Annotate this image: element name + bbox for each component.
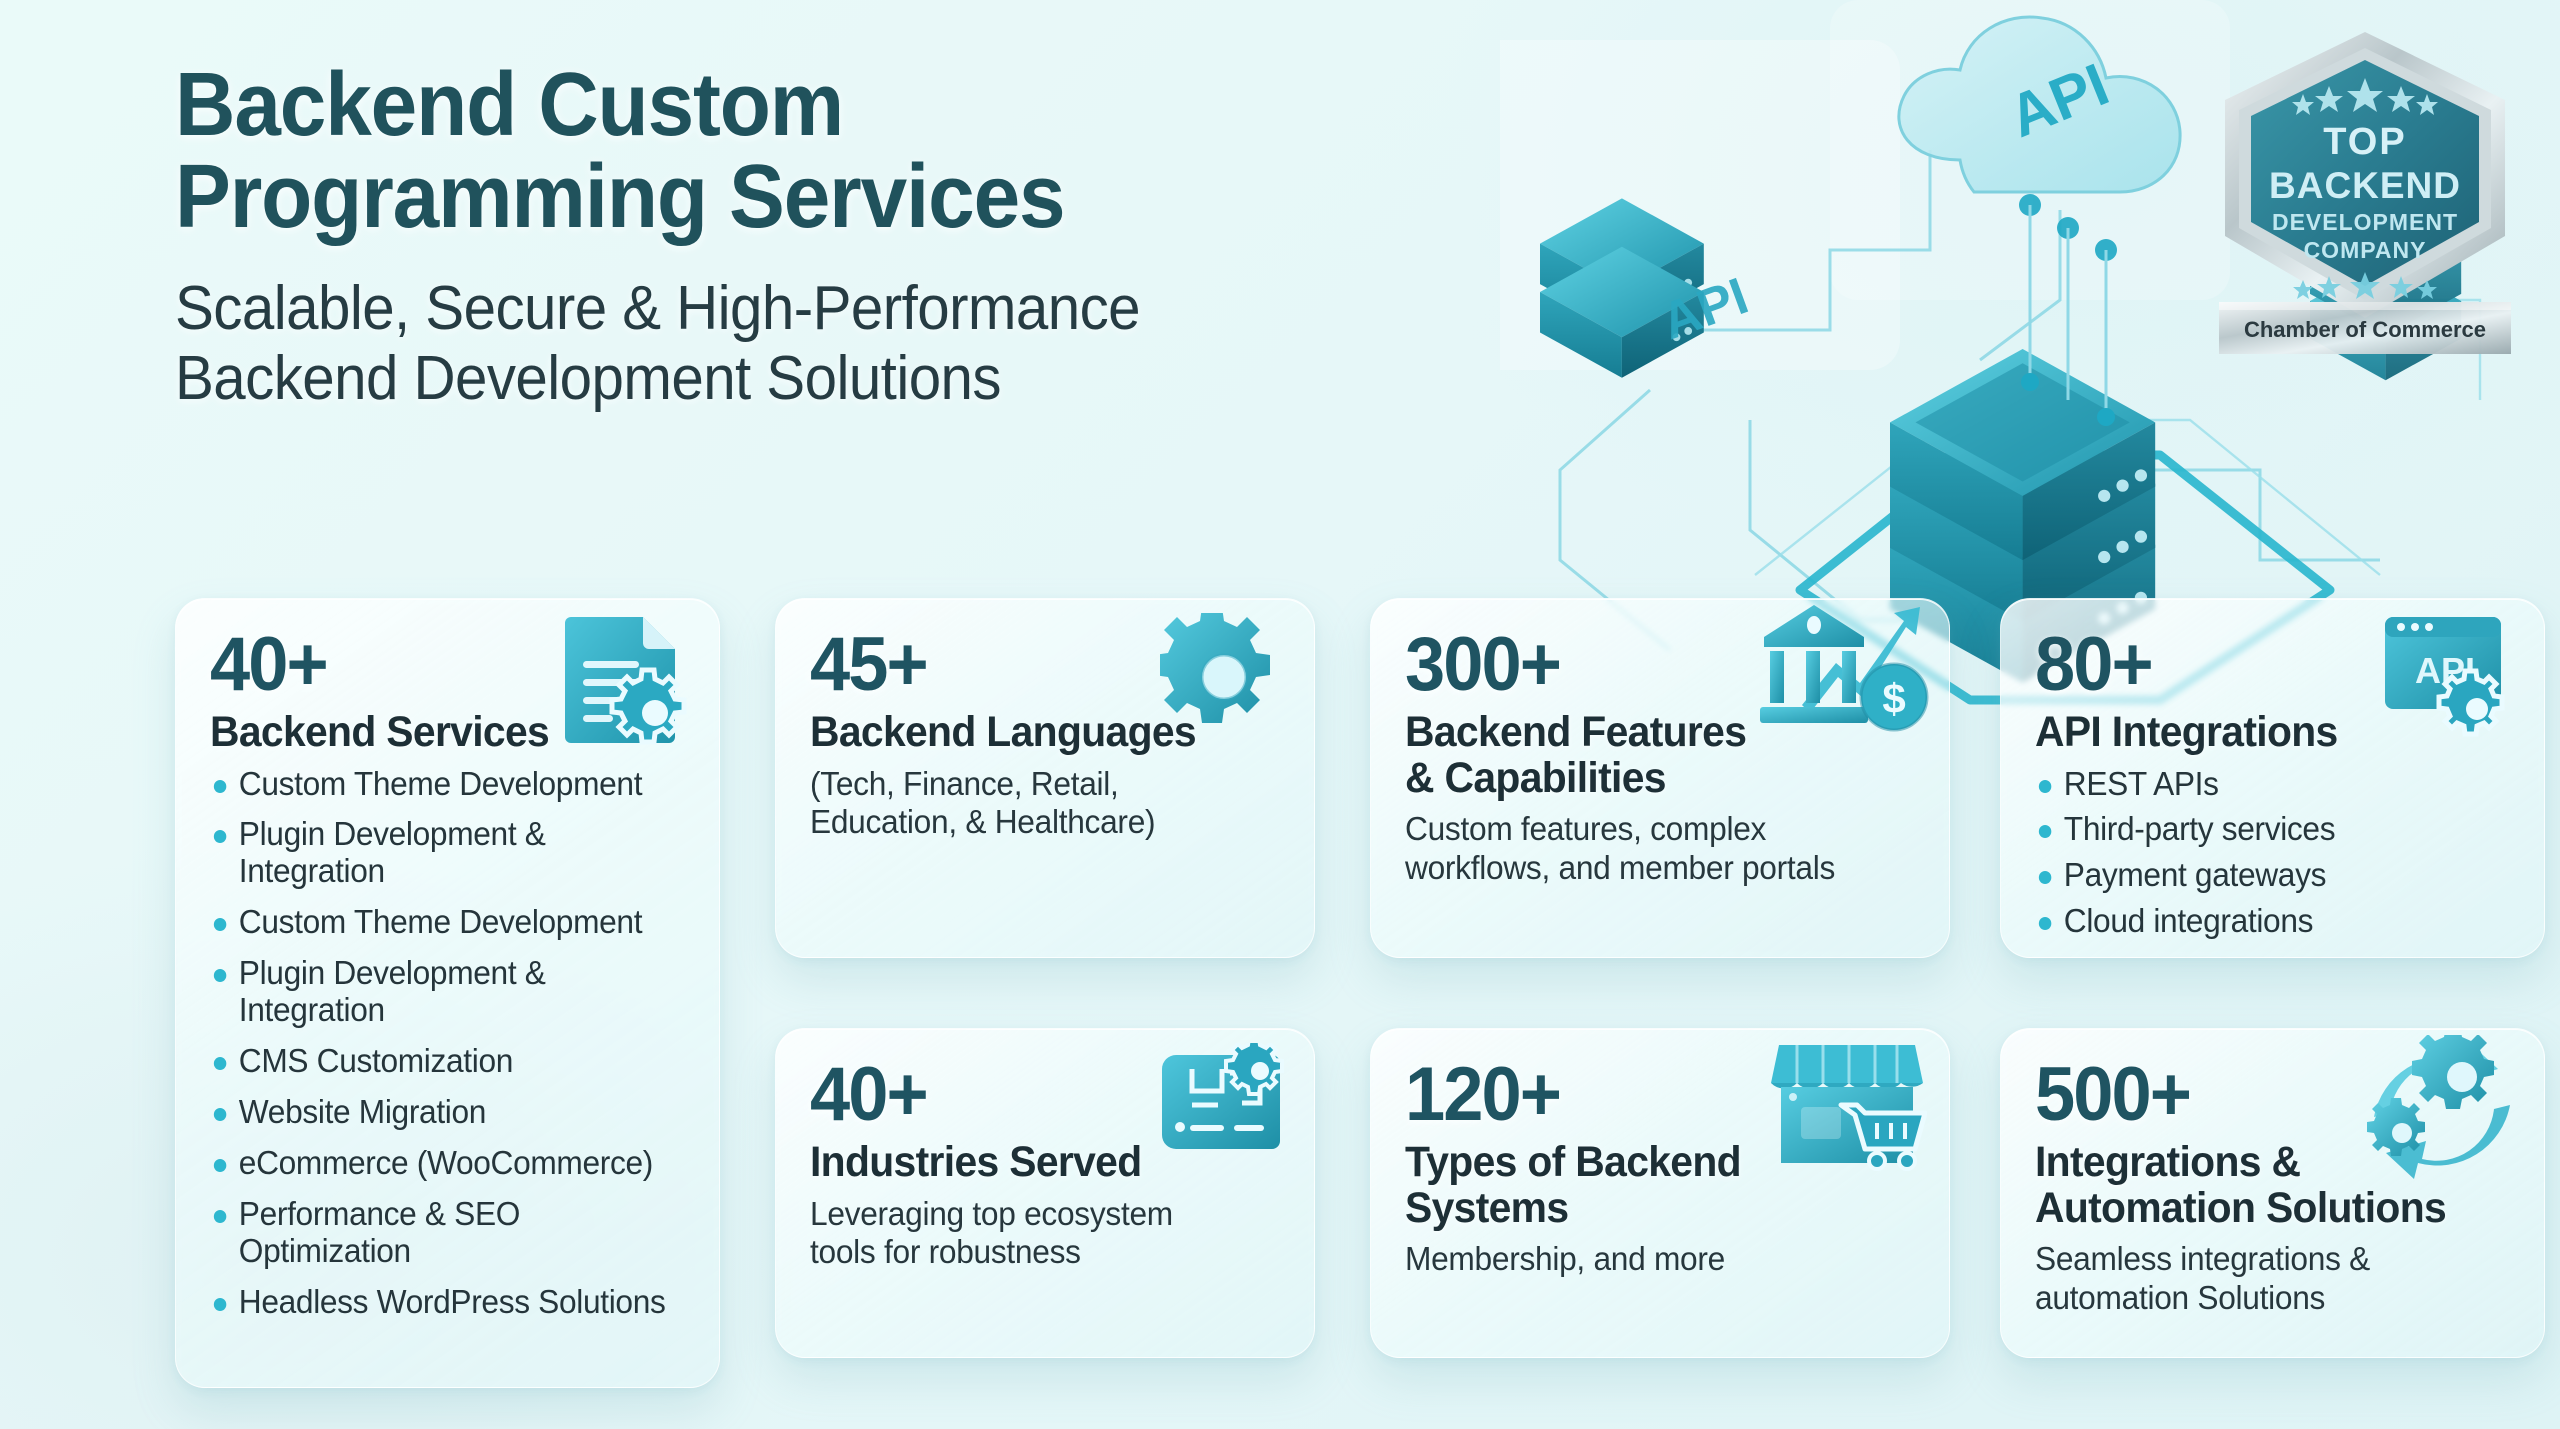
stat-subtitle: (Tech, Finance, Retail, Education, & Hea… xyxy=(810,765,1261,842)
stat-subtitle-line1: Seamless integrations & xyxy=(2035,1240,2491,1279)
api-integrations-list: REST APIs Third-party services Payment g… xyxy=(2035,766,2510,941)
list-item: eCommerce (WooCommerce) xyxy=(210,1145,666,1182)
stat-title-line2: Systems xyxy=(1405,1186,1890,1232)
stat-card-backend-systems[interactable]: 120+ Types of Backend Systems Membership… xyxy=(1370,1028,1950,1358)
stat-card-backend-services[interactable]: 40+ Backend Services Custom Theme Develo… xyxy=(175,598,720,1388)
stat-title: Integrations & Automation Solutions xyxy=(2035,1140,2486,1231)
badge-ribbon-text: Chamber of Commerce xyxy=(2244,317,2486,342)
badge-line3: DEVELOPMENT xyxy=(2272,209,2458,235)
list-item: Performance & SEO Optimization xyxy=(210,1196,666,1270)
list-item: Plugin Development & Integration xyxy=(210,816,666,890)
stat-subtitle: Leveraging top ecosystem tools for robus… xyxy=(810,1195,1261,1272)
list-item: Cloud integrations xyxy=(2035,903,2491,940)
list-item: Website Migration xyxy=(210,1094,666,1131)
page-title: Backend Custom Programming Services xyxy=(175,60,1421,244)
stat-subtitle: Custom features, complex workflows, and … xyxy=(1405,810,1895,887)
infographic-canvas: Backend Custom Programming Services Scal… xyxy=(0,0,2560,1429)
page-subtitle-line2: Backend Development Solutions xyxy=(175,344,1435,414)
stat-number: 45+ xyxy=(810,629,1257,702)
stat-title: API Integrations xyxy=(2035,710,2486,756)
headline-block: Backend Custom Programming Services Scal… xyxy=(175,60,1515,414)
stat-card-api-integrations[interactable]: API 80+ API Integrations REST APIs Third… xyxy=(2000,598,2545,958)
stat-card-backend-features[interactable]: $ 300+ Backend Features & Capabilities C… xyxy=(1370,598,1950,958)
page-subtitle: Scalable, Secure & High-Performance Back… xyxy=(175,274,1435,414)
stat-card-industries-served[interactable]: 40+ Industries Served Leveraging top eco… xyxy=(775,1028,1315,1358)
page-subtitle-line1: Scalable, Secure & High-Performance xyxy=(175,274,1435,344)
stat-title: Backend Languages xyxy=(810,710,1257,756)
page-title-line2: Programming Services xyxy=(175,152,1421,244)
stat-number: 500+ xyxy=(2035,1059,2486,1132)
top-backend-company-badge: TOP BACKEND DEVELOPMENT COMPANY Chamber … xyxy=(2205,18,2525,408)
stat-subtitle-line1: (Tech, Finance, Retail, xyxy=(810,765,1261,804)
badge-line4: COMPANY xyxy=(2304,237,2427,263)
stat-subtitle-line2: workflows, and member portals xyxy=(1405,849,1895,888)
stat-title: Backend Services xyxy=(210,710,661,756)
stat-subtitle-line1: Membership, and more xyxy=(1405,1240,1895,1279)
stat-number: 40+ xyxy=(210,629,661,702)
stat-subtitle-line1: Custom features, complex xyxy=(1405,810,1895,849)
stat-subtitle-line1: Leveraging top ecosystem xyxy=(810,1195,1261,1234)
backend-services-list: Custom Theme Development Plugin Developm… xyxy=(210,766,685,1321)
svg-text:API: API xyxy=(2000,50,2118,150)
stat-card-backend-languages[interactable]: 45+ Backend Languages (Tech, Finance, Re… xyxy=(775,598,1315,958)
badge-line2: BACKEND xyxy=(2269,165,2461,206)
stat-card-automation-solutions[interactable]: 500+ Integrations & Automation Solutions… xyxy=(2000,1028,2545,1358)
list-item: Headless WordPress Solutions xyxy=(210,1284,666,1321)
stat-number: 300+ xyxy=(1405,629,1890,702)
stat-subtitle: Membership, and more xyxy=(1405,1240,1895,1279)
stat-number: 120+ xyxy=(1405,1059,1890,1132)
stat-title-line1: Integrations & xyxy=(2035,1140,2486,1186)
stat-title: Backend Features & Capabilities xyxy=(1405,710,1890,801)
stat-title-line2: Automation Solutions xyxy=(2035,1186,2486,1232)
api-cloud: API xyxy=(1899,17,2180,192)
list-item: Custom Theme Development xyxy=(210,904,666,941)
stat-title-line1: Types of Backend xyxy=(1405,1140,1890,1186)
list-item: Custom Theme Development xyxy=(210,766,666,803)
badge-line1: TOP xyxy=(2323,121,2406,163)
stat-title: Types of Backend Systems xyxy=(1405,1140,1890,1231)
stat-subtitle: Seamless integrations & automation Solut… xyxy=(2035,1240,2491,1317)
list-item: REST APIs xyxy=(2035,766,2491,803)
stat-title-line1: Backend Features xyxy=(1405,710,1890,756)
stat-subtitle-line2: Education, & Healthcare) xyxy=(810,803,1261,842)
list-item: Plugin Development & Integration xyxy=(210,955,666,1029)
stat-number: 80+ xyxy=(2035,629,2486,702)
stat-title-line2: & Capabilities xyxy=(1405,756,1890,802)
list-item: CMS Customization xyxy=(210,1043,666,1080)
svg-text:API: API xyxy=(1654,267,1755,351)
page-title-line1: Backend Custom xyxy=(175,60,1421,152)
stat-number: 40+ xyxy=(810,1059,1257,1132)
list-item: Third-party services xyxy=(2035,811,2491,848)
stat-title: Industries Served xyxy=(810,1140,1257,1186)
stat-subtitle-line2: tools for robustness xyxy=(810,1233,1261,1272)
stat-subtitle-line2: automation Solutions xyxy=(2035,1279,2491,1318)
list-item: Payment gateways xyxy=(2035,857,2491,894)
